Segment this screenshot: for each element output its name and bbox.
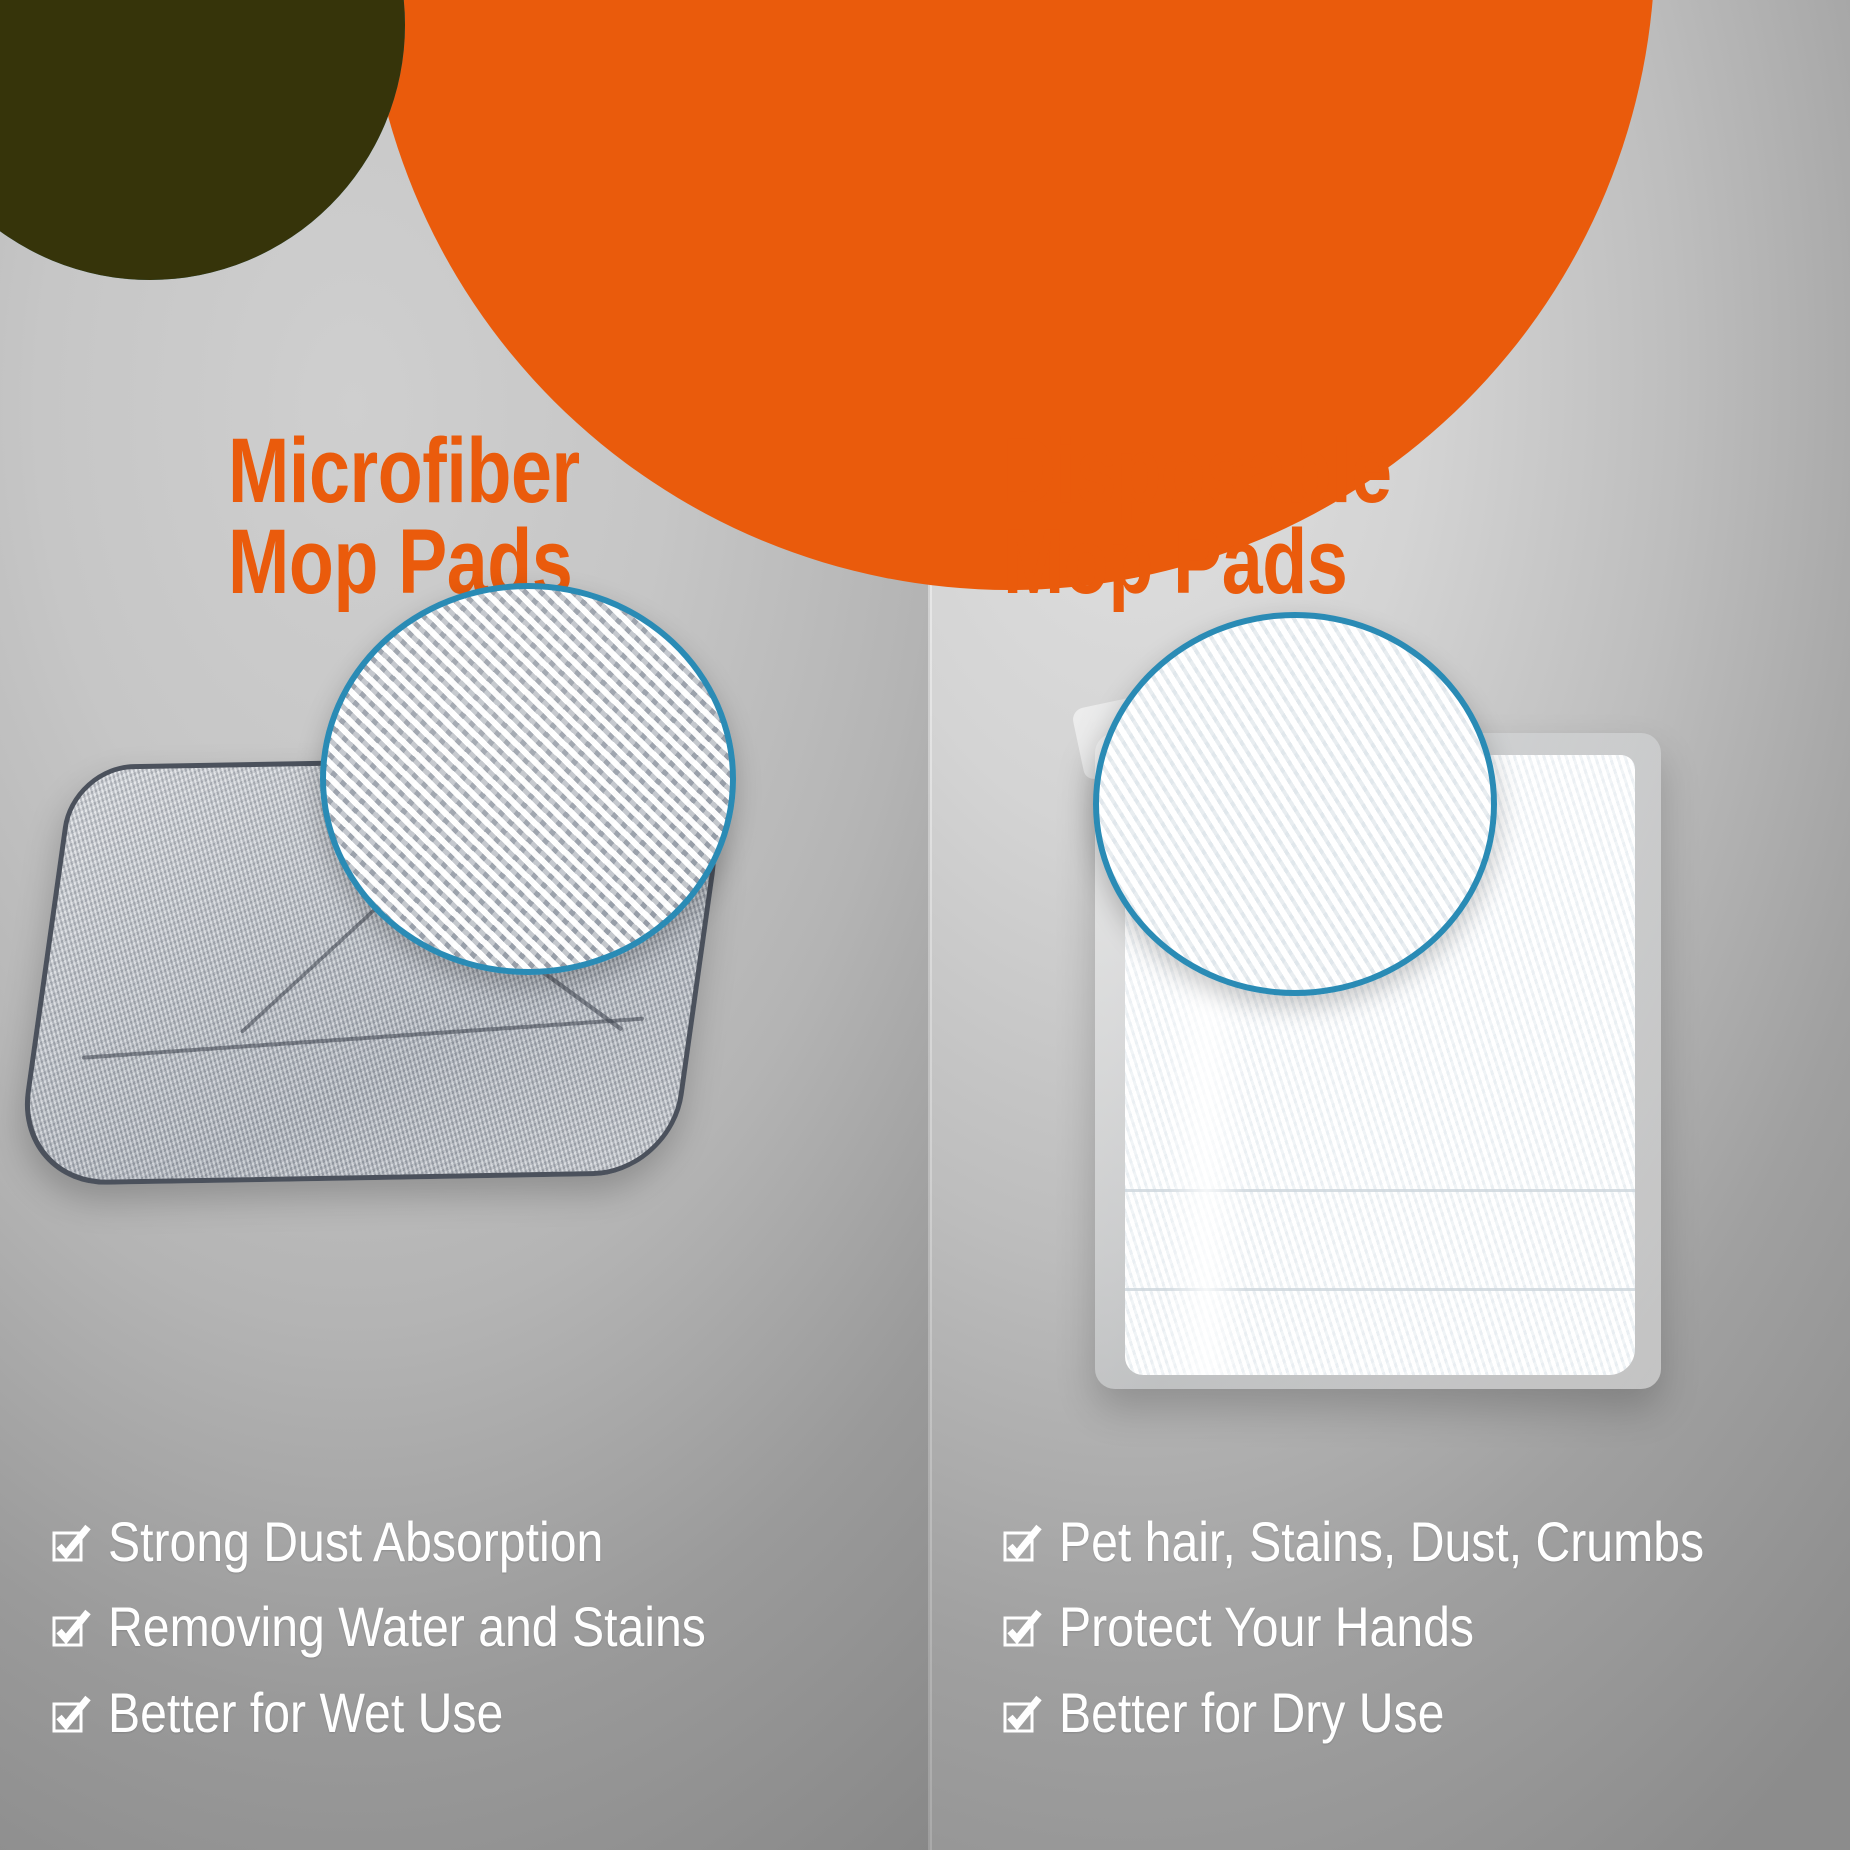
list-item: Removing Water and Stains: [52, 1597, 892, 1656]
list-item: Strong Dust Absorption: [52, 1512, 892, 1571]
feature-label: Protect Your Hands: [1059, 1597, 1474, 1656]
infographic-canvas: Microfiber Mop Pads Strong Dust Absorpti…: [0, 0, 1850, 1850]
feature-label: Strong Dust Absorption: [108, 1512, 603, 1571]
pad-seam: [81, 1016, 644, 1059]
checkbox-checked-icon: [52, 1614, 86, 1648]
list-item: Pet hair, Stains, Dust, Crumbs: [1003, 1512, 1833, 1571]
heading-disposable-line1: Disposable: [1003, 420, 1392, 522]
feature-label: Pet hair, Stains, Dust, Crumbs: [1059, 1512, 1704, 1571]
checkbox-checked-icon: [52, 1700, 86, 1734]
feature-label: Removing Water and Stains: [108, 1597, 706, 1656]
checkbox-checked-icon: [1003, 1614, 1037, 1648]
list-item: Protect Your Hands: [1003, 1597, 1833, 1656]
feature-label: Better for Wet Use: [108, 1683, 503, 1742]
heading-disposable-line2: Mop Pads: [1003, 517, 1392, 608]
microfiber-feature-list: Strong Dust Absorption Removing Water an…: [52, 1512, 892, 1768]
list-item: Better for Dry Use: [1003, 1683, 1833, 1742]
heading-microfiber-line1: Microfiber: [228, 420, 580, 522]
checkbox-checked-icon: [1003, 1529, 1037, 1563]
disposable-fiber-closeup: [1093, 612, 1497, 996]
disposable-feature-list: Pet hair, Stains, Dust, Crumbs Protect Y…: [1003, 1512, 1833, 1768]
list-item: Better for Wet Use: [52, 1683, 892, 1742]
feature-label: Better for Dry Use: [1059, 1683, 1444, 1742]
checkbox-checked-icon: [52, 1529, 86, 1563]
checkbox-checked-icon: [1003, 1700, 1037, 1734]
microfiber-texture-closeup: [320, 583, 736, 975]
